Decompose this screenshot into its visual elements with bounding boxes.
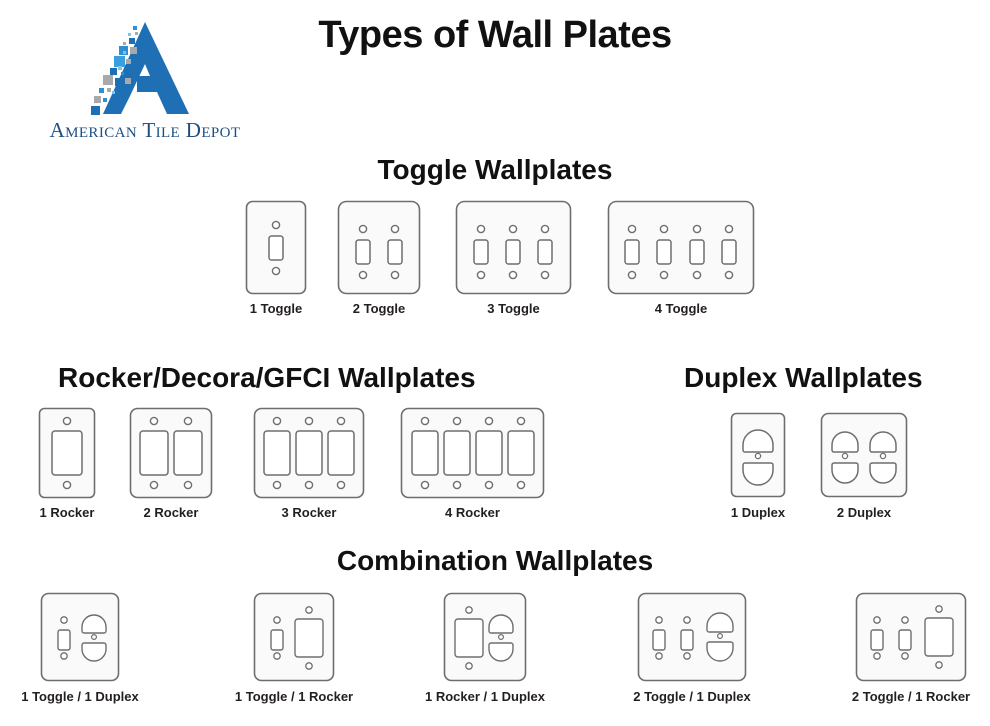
plate-label: 4 Toggle — [607, 301, 755, 316]
plate-item-1-rocker-1-duplex[interactable]: 1 Rocker / 1 Duplex — [443, 592, 527, 682]
section-heading-toggle: Toggle Wallplates — [0, 154, 990, 186]
plate-graphic-1-rocker — [38, 407, 96, 499]
plate-item-1-toggle[interactable]: 1 Toggle — [245, 200, 307, 295]
plate-item-2-toggle[interactable]: 2 Toggle — [337, 200, 421, 295]
plate-graphic-2-toggle-1-duplex — [637, 592, 747, 682]
plate-graphic-4-rocker — [400, 407, 545, 499]
plate-item-4-toggle[interactable]: 4 Toggle — [607, 200, 755, 295]
plate-item-2-rocker[interactable]: 2 Rocker — [129, 407, 213, 499]
plate-item-2-toggle-1-rocker[interactable]: 2 Toggle / 1 Rocker — [855, 592, 967, 682]
plate-item-1-rocker[interactable]: 1 Rocker — [38, 407, 96, 499]
brand-name: American Tile Depot — [10, 118, 280, 143]
plate-graphic-2-rocker — [129, 407, 213, 499]
plate-item-2-toggle-1-duplex[interactable]: 2 Toggle / 1 Duplex — [637, 592, 747, 682]
section-heading-duplex: Duplex Wallplates — [684, 362, 923, 394]
plate-item-3-toggle[interactable]: 3 Toggle — [455, 200, 572, 295]
plate-label: 2 Duplex — [820, 505, 908, 520]
plate-label: 4 Rocker — [400, 505, 545, 520]
plate-label: 2 Toggle — [337, 301, 421, 316]
plate-graphic-1-toggle-1-rocker — [253, 592, 335, 682]
plate-label: 3 Toggle — [455, 301, 572, 316]
plate-item-1-toggle-1-duplex[interactable]: 1 Toggle / 1 Duplex — [40, 592, 120, 682]
plate-graphic-3-rocker — [253, 407, 365, 499]
plate-graphic-1-rocker-1-duplex — [443, 592, 527, 682]
plate-graphic-2-duplex — [820, 412, 908, 498]
plate-item-2-duplex[interactable]: 2 Duplex — [820, 412, 908, 498]
section-heading-rocker: Rocker/Decora/GFCI Wallplates — [58, 362, 476, 394]
plate-item-1-toggle-1-rocker[interactable]: 1 Toggle / 1 Rocker — [253, 592, 335, 682]
plate-label: 1 Toggle / 1 Duplex — [15, 689, 145, 704]
page-title: Types of Wall Plates — [0, 14, 990, 57]
plate-label: 1 Duplex — [730, 505, 786, 520]
plate-item-1-duplex[interactable]: 1 Duplex — [730, 412, 786, 498]
plate-graphic-4-toggle — [607, 200, 755, 295]
plate-label: 2 Toggle / 1 Rocker — [843, 689, 979, 704]
plate-item-3-rocker[interactable]: 3 Rocker — [253, 407, 365, 499]
plate-label: 3 Rocker — [253, 505, 365, 520]
plate-label: 1 Rocker — [38, 505, 96, 520]
plate-label: 1 Toggle — [245, 301, 307, 316]
plate-item-4-rocker[interactable]: 4 Rocker — [400, 407, 545, 499]
plate-graphic-2-toggle-1-rocker — [855, 592, 967, 682]
plate-graphic-3-toggle — [455, 200, 572, 295]
plate-graphic-1-toggle-1-duplex — [40, 592, 120, 682]
plate-label: 2 Rocker — [129, 505, 213, 520]
plate-graphic-1-toggle — [245, 200, 307, 295]
plate-label: 2 Toggle / 1 Duplex — [625, 689, 759, 704]
plate-graphic-2-toggle — [337, 200, 421, 295]
section-heading-combination: Combination Wallplates — [0, 545, 990, 577]
plate-label: 1 Rocker / 1 Duplex — [418, 689, 552, 704]
plate-graphic-1-duplex — [730, 412, 786, 498]
plate-label: 1 Toggle / 1 Rocker — [228, 689, 360, 704]
